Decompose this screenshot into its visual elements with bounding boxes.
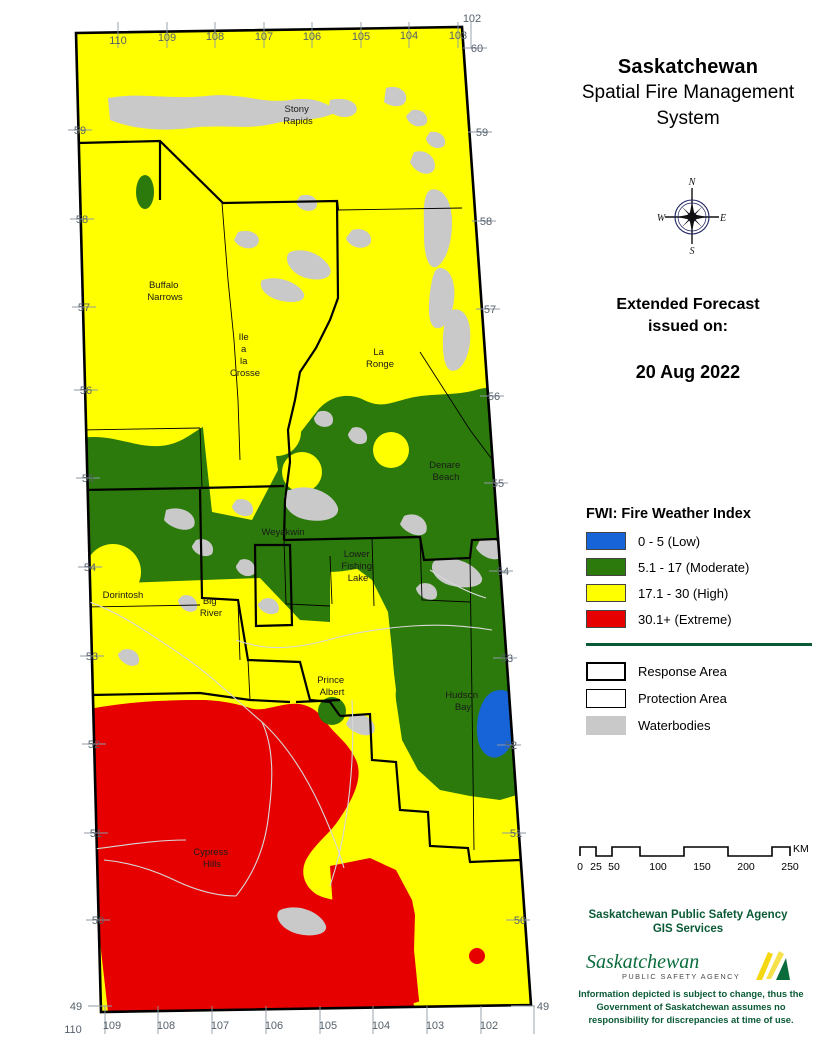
lat-label-right-3: 57 (484, 304, 496, 316)
legend-row-high[interactable]: 17.1 - 30 (High) (586, 581, 816, 605)
lat-label-right-2: 58 (480, 216, 492, 228)
scale-bar: KM 0 25 50 100 150 200 250 (568, 838, 816, 878)
scale-tick-4: 150 (693, 861, 711, 873)
legend-row-response-area[interactable]: Response Area (586, 658, 816, 685)
lon-label-bottom-0: 110 (64, 1024, 82, 1036)
logo-wheat-icon (756, 951, 790, 980)
lon-label-top-7: 103 (449, 30, 467, 42)
legend-row-low[interactable]: 0 - 5 (Low) (586, 529, 816, 553)
lat-label-right-5: 55 (492, 478, 504, 490)
map-panel: 110 109 108 107 106 105 104 103 102 110 … (0, 0, 560, 1056)
compass-label-north: N (688, 177, 697, 188)
compass-rose-icon: N S W E (656, 172, 728, 258)
saskatchewan-psa-logo: Saskatchewan PUBLIC SAFETY AGENCY (580, 946, 800, 988)
lat-label-left-10: 50 (92, 915, 104, 927)
logo-wordmark: Saskatchewan (586, 951, 699, 973)
lon-label-bottom-4: 106 (265, 1020, 283, 1032)
disclaimer-text: Information depicted is subject to chang… (576, 988, 806, 1027)
scale-tick-6: 250 (781, 861, 799, 873)
fwi-surface (60, 20, 560, 1030)
credits-block: Saskatchewan Public Safety Agency GIS Se… (560, 908, 816, 936)
place-label-dorintosh: Dorintosh (103, 590, 144, 601)
scale-tick-2: 50 (608, 861, 620, 873)
lat-label-right-11: 49 (537, 1001, 549, 1013)
legend-row-extreme[interactable]: 30.1+ (Extreme) (586, 607, 816, 631)
lon-label-bottom-5: 105 (319, 1020, 337, 1032)
lat-label-right-10: 50 (514, 915, 526, 927)
lon-label-bottom-1: 109 (103, 1020, 121, 1032)
scale-tick-1: 25 (590, 861, 602, 873)
legend-row-protection-area[interactable]: Protection Area (586, 685, 816, 712)
lon-label-bottom-2: 108 (157, 1020, 175, 1032)
lat-label-left-6: 54 (84, 562, 96, 574)
place-label-denare-beach: Denare Beach (429, 460, 463, 483)
legend-label-extreme: 30.1+ (Extreme) (638, 612, 732, 627)
legend-swatch-extreme (586, 610, 626, 628)
legend-label-waterbodies: Waterbodies (638, 718, 711, 733)
scale-tick-5: 200 (737, 861, 755, 873)
legend-swatch-low (586, 532, 626, 550)
legend-label-low: 0 - 5 (Low) (638, 534, 700, 549)
lat-label-right-1: 59 (476, 127, 488, 139)
legend-swatch-waterbodies (586, 716, 626, 735)
lat-label-right-4: 56 (488, 391, 500, 403)
lat-label-left-7: 53 (86, 651, 98, 663)
legend-title: FWI: Fire Weather Index (586, 506, 816, 522)
lat-label-left-4: 56 (80, 385, 92, 397)
lat-label-left-1: 59 (74, 125, 86, 137)
lon-label-top-5: 105 (352, 31, 370, 43)
credit-agency: Saskatchewan Public Safety Agency (560, 908, 816, 922)
lat-label-right-9: 51 (510, 828, 522, 840)
lat-label-right-7: 53 (501, 653, 513, 665)
fwi-spot-high-sw (83, 925, 97, 943)
fwi-spot-extreme-se (469, 948, 485, 964)
map-title-block: Saskatchewan Spatial Fire Management Sys… (560, 56, 816, 131)
lon-label-bottom-3: 107 (211, 1020, 229, 1032)
lon-label-bottom-8: 102 (480, 1020, 498, 1032)
legend-row-waterbodies[interactable]: Waterbodies (586, 712, 816, 739)
place-label-prince-albert: Prince Albert (317, 675, 347, 698)
logo-subtitle: PUBLIC SAFETY AGENCY (622, 972, 740, 981)
compass-label-west: W (657, 213, 667, 224)
lon-label-top-1: 109 (158, 32, 176, 44)
lat-label-left-8: 52 (88, 739, 100, 751)
fwi-pocket-moderate-nw (136, 175, 154, 209)
credit-division: GIS Services (560, 922, 816, 936)
lon-label-top-0: 110 (109, 35, 127, 47)
page-subtitle-line1: Spatial Fire Management (560, 81, 816, 105)
scale-tick-0: 0 (577, 861, 583, 873)
scale-unit-label: KM (793, 843, 809, 855)
fwi-zone-high-se (414, 870, 540, 1010)
lon-label-top-3: 107 (255, 31, 273, 43)
place-label-buffalo-narrows: Buffalo Narrows (147, 280, 183, 303)
lat-label-right-6: 54 (497, 566, 509, 578)
scale-tick-3: 100 (649, 861, 667, 873)
forecast-date: 20 Aug 2022 (560, 362, 816, 383)
side-panel: Saskatchewan Spatial Fire Management Sys… (560, 0, 816, 1056)
lon-label-top-8: 102 (463, 13, 481, 25)
legend-swatch-protection-area (586, 689, 626, 708)
lon-label-top-6: 104 (400, 30, 418, 42)
legend: FWI: Fire Weather Index 0 - 5 (Low) 5.1 … (586, 506, 816, 739)
page-title: Saskatchewan (560, 56, 816, 79)
lon-label-bottom-6: 104 (372, 1020, 390, 1032)
forecast-block: Extended Forecast issued on: 20 Aug 2022 (560, 294, 816, 383)
legend-divider (586, 643, 812, 646)
forecast-heading-line2: issued on: (560, 316, 816, 338)
lon-label-top-4: 106 (303, 31, 321, 43)
lat-label-right-0: 60 (471, 43, 483, 55)
place-label-weyakwin: Weyakwin (261, 527, 304, 538)
legend-row-moderate[interactable]: 5.1 - 17 (Moderate) (586, 555, 816, 579)
legend-swatch-moderate (586, 558, 626, 576)
compass-label-south: S (690, 246, 695, 257)
place-label-big-river: Big River (200, 596, 222, 619)
lat-label-right-8: 52 (505, 740, 517, 752)
legend-label-high: 17.1 - 30 (High) (638, 586, 728, 601)
fwi-pocket-high-4 (373, 432, 409, 468)
legend-swatch-high (586, 584, 626, 602)
lat-label-left-2: 58 (76, 214, 88, 226)
lat-label-left-5: 55 (82, 473, 94, 485)
lon-label-top-2: 108 (206, 31, 224, 43)
page-subtitle-line2: System (560, 107, 816, 131)
place-label-stony-rapids: Stony Rapids (283, 104, 313, 127)
lat-label-left-9: 51 (90, 828, 102, 840)
lat-label-left-3: 57 (78, 302, 90, 314)
legend-swatch-response-area (586, 662, 626, 681)
legend-label-protection-area: Protection Area (638, 691, 727, 706)
forecast-heading-line1: Extended Forecast (560, 294, 816, 316)
lat-label-left-11: 49 (70, 1001, 82, 1013)
lon-label-bottom-7: 103 (426, 1020, 444, 1032)
saskatchewan-fwi-map[interactable]: 110 109 108 107 106 105 104 103 102 110 … (0, 0, 560, 1056)
compass-label-east: E (719, 213, 726, 224)
legend-label-moderate: 5.1 - 17 (Moderate) (638, 560, 749, 575)
legend-label-response-area: Response Area (638, 664, 727, 679)
